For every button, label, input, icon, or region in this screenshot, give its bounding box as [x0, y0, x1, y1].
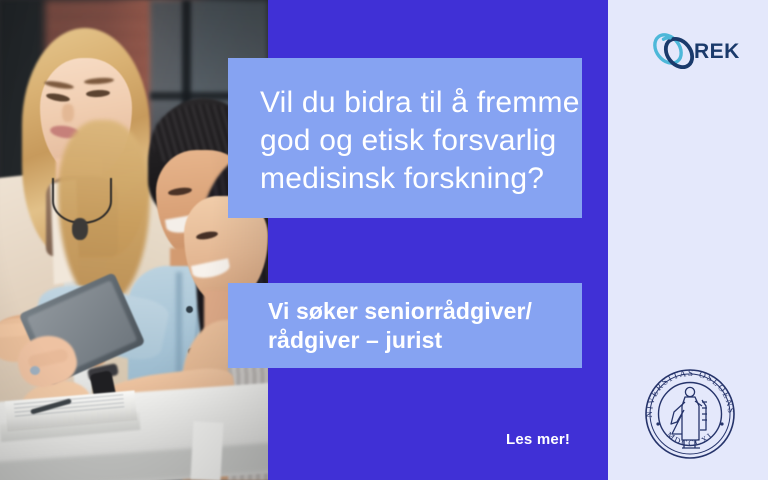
headline-line-2: god og etisk forsvarlig	[260, 122, 554, 160]
role-line-2: rådgiver – jurist	[268, 326, 560, 355]
headline-card: Vil du bidra til å fremme god og etisk f…	[228, 58, 582, 218]
headline-line-3: medisinsk forskning?	[260, 160, 554, 198]
rek-wordmark: REK	[694, 40, 740, 63]
role-line-1: Vi søker seniorrådgiver/	[268, 297, 560, 326]
uio-seal: UNIVERSITAS OSLOENSIS MDCCCXI	[638, 362, 742, 466]
rek-logo[interactable]: REK	[650, 28, 744, 72]
recruitment-banner: Vil du bidra til å fremme god og etisk f…	[0, 0, 768, 480]
job-role-card: Vi søker seniorrådgiver/ rådgiver – juri…	[228, 283, 582, 368]
headline-line-1: Vil du bidra til å fremme	[260, 84, 554, 122]
read-more-link[interactable]: Les mer!	[506, 431, 570, 448]
interlocking-rings-icon	[650, 30, 698, 72]
